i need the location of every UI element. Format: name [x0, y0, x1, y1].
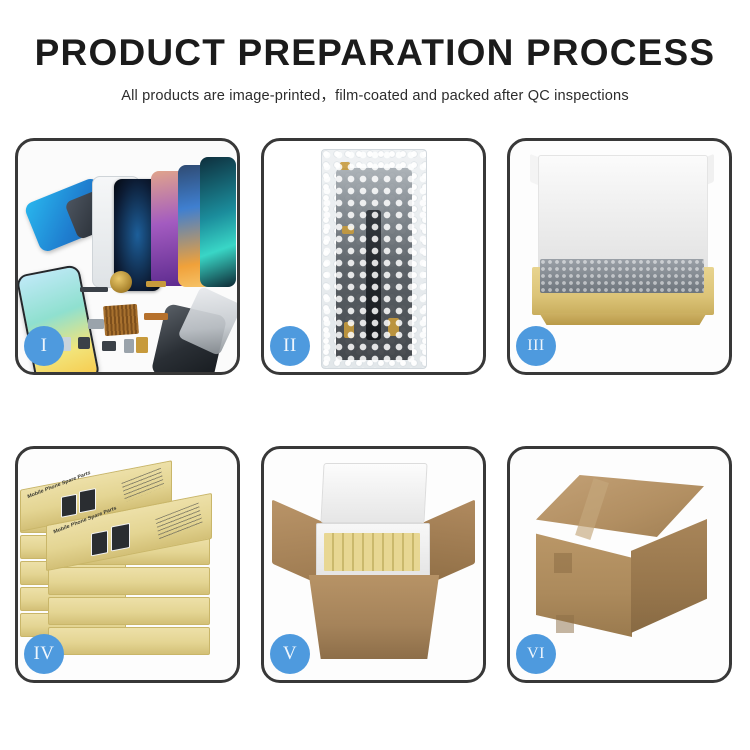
flex-cable-strip: [366, 210, 381, 340]
step-badge-2: II: [270, 326, 310, 366]
foam-box-lid: [320, 463, 427, 523]
panel-step-6: VI: [507, 446, 732, 683]
part-connector-gold: [136, 337, 148, 353]
panel-step-3: III: [507, 138, 732, 375]
page-subtitle: All products are image-printed，film-coat…: [0, 84, 750, 105]
panel-step-4: Mobile Phone Spare Parts Mobile Phone Sp…: [15, 446, 240, 683]
box-art-phone-a2: [79, 488, 96, 513]
carton-side-face: [631, 519, 707, 633]
bubble-wrap-bag: [321, 149, 427, 369]
carton-handle-tab-lower: [556, 615, 574, 633]
step-badge-5: V: [270, 634, 310, 674]
foam-lid-panel: [538, 155, 708, 273]
step-badge-6: VI: [516, 634, 556, 674]
gold-tab-bottom-right: [388, 318, 399, 336]
part-sim-tray: [124, 339, 134, 353]
part-strip-1: [80, 287, 108, 292]
carton-handle-tab-upper: [554, 553, 572, 573]
part-speaker: [102, 341, 116, 351]
stack-box-r4: [48, 627, 210, 655]
gold-tab-top: [340, 162, 350, 170]
part-flex-gold-1: [146, 281, 166, 287]
stack-box-r3: [48, 597, 210, 625]
page-title: PRODUCT PREPARATION PROCESS: [0, 34, 750, 73]
part-flex-copper: [144, 313, 168, 320]
logic-board-chip: [103, 304, 139, 336]
phone-teal-gradient: [200, 157, 236, 287]
panel-step-1: I: [15, 138, 240, 375]
panel-step-2: II: [261, 138, 486, 375]
carton-body: [300, 575, 448, 659]
steps-grid: I II: [15, 138, 735, 683]
product-preparation-infographic: PRODUCT PREPARATION PROCESS All products…: [0, 0, 750, 750]
stack-box-r2: [48, 567, 210, 595]
carton-top-face: [536, 475, 704, 537]
box-spec-lines-back: [121, 468, 164, 502]
bubble-wrapped-contents: [540, 259, 704, 293]
box-art-phone-b1: [91, 530, 108, 556]
gold-tab-bottom-left: [344, 322, 354, 338]
header: PRODUCT PREPARATION PROCESS All products…: [0, 0, 750, 105]
carton-front-face: [536, 527, 632, 637]
part-bracket-1: [88, 319, 104, 329]
step-badge-3: III: [516, 326, 556, 366]
step-badge-1: I: [24, 326, 64, 366]
panel-step-5: V: [261, 446, 486, 683]
step-badge-4: IV: [24, 634, 64, 674]
box-spec-lines-front: [155, 502, 202, 540]
speaker-module-icon: [110, 271, 132, 293]
packed-yellow-boxes: [324, 533, 420, 571]
box-art-phone-a1: [61, 494, 77, 518]
part-camera-module: [78, 337, 90, 349]
gold-tab-middle: [342, 226, 354, 234]
box-art-phone-b2: [111, 523, 130, 552]
carton-flap-right: [423, 499, 475, 586]
